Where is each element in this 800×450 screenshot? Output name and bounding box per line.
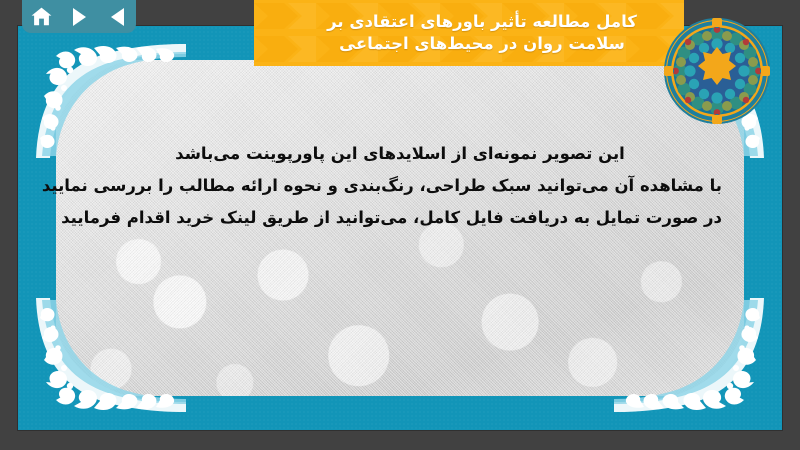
body-line-1: این تصویر نمونه‌ای از اسلایدهای این پاور… bbox=[78, 138, 722, 170]
home-button[interactable] bbox=[26, 3, 56, 31]
home-icon bbox=[31, 7, 52, 26]
slide-viewer: این تصویر نمونه‌ای از اسلایدهای این پاور… bbox=[0, 0, 800, 450]
navigation-bar bbox=[22, 0, 136, 33]
slide-title-banner: کامل مطالعه تأثیر باورهای اعتقادی بر سلا… bbox=[254, 0, 684, 66]
slide-title-line-2: سلامت روان در محیط‌های اجتماعی bbox=[327, 33, 637, 55]
persian-medallion-icon bbox=[664, 18, 770, 124]
triangle-right-icon bbox=[73, 8, 86, 26]
slide-body-text: این تصویر نمونه‌ای از اسلایدهای این پاور… bbox=[78, 138, 722, 235]
previous-slide-button[interactable] bbox=[102, 3, 132, 31]
next-slide-button[interactable] bbox=[64, 3, 94, 31]
body-line-3: در صورت تمایل به دریافت فایل کامل، می‌تو… bbox=[78, 202, 722, 234]
triangle-left-icon bbox=[111, 8, 124, 26]
slide-title-text: کامل مطالعه تأثیر باورهای اعتقادی بر سلا… bbox=[275, 11, 663, 56]
body-line-2: با مشاهده آن می‌توانید سبک طراحی، رنگ‌بن… bbox=[78, 170, 722, 202]
slide-title-line-1: کامل مطالعه تأثیر باورهای اعتقادی بر bbox=[327, 11, 637, 33]
